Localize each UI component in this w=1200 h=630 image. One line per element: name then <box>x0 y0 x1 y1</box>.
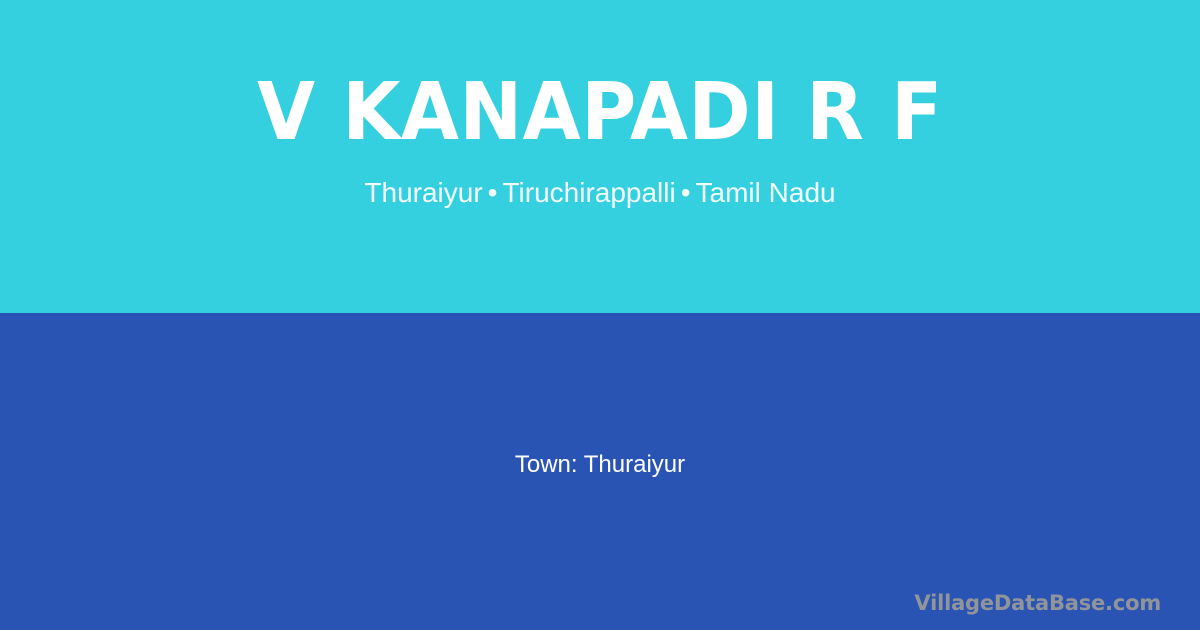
breadcrumb-item-district: Tiruchirappalli <box>502 177 675 208</box>
breadcrumb-item-state: Tamil Nadu <box>696 177 836 208</box>
breadcrumb-separator: • <box>676 177 696 208</box>
page-title: V KANAPADI R F <box>219 70 981 155</box>
breadcrumb: Thuraiyur•Tiruchirappalli•Tamil Nadu <box>324 175 875 211</box>
town-detail-text: Town: Thuraiyur <box>515 449 685 480</box>
breadcrumb-separator: • <box>483 177 503 208</box>
village-info-card: V KANAPADI R F Thuraiyur•Tiruchirappalli… <box>0 0 1200 630</box>
breadcrumb-item-town: Thuraiyur <box>364 177 482 208</box>
card-body: Town: Thuraiyur VillageDataBase.com <box>0 313 1200 630</box>
site-watermark: VillageDataBase.com <box>914 591 1161 615</box>
card-header: V KANAPADI R F Thuraiyur•Tiruchirappalli… <box>0 0 1200 313</box>
